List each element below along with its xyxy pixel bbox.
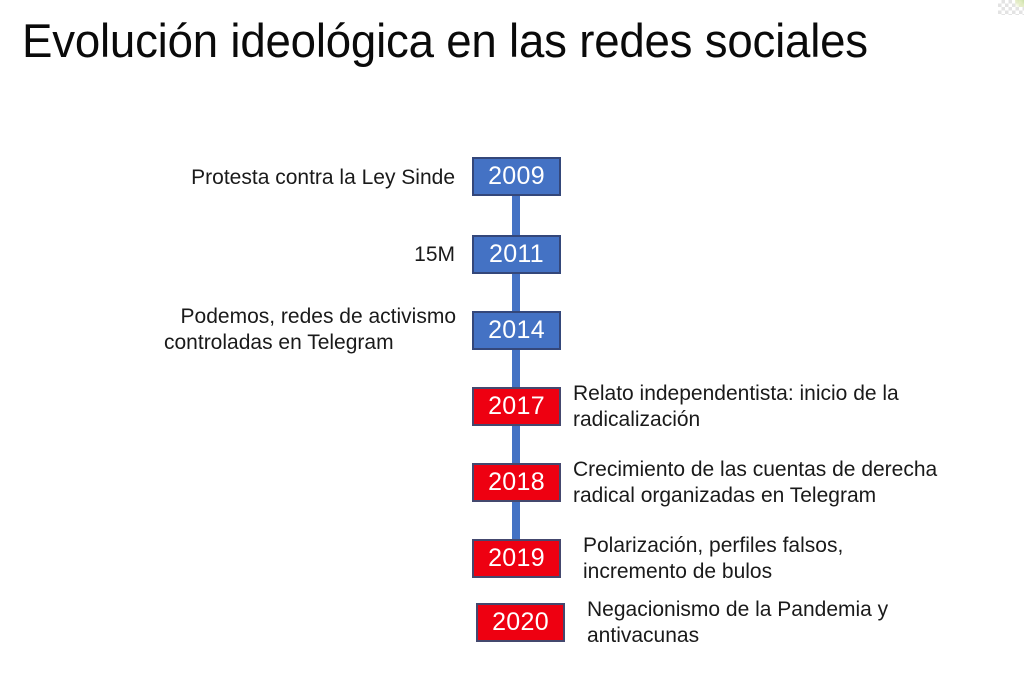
timeline-label-2018-line2: radical organizadas en Telegram: [573, 483, 993, 509]
timeline-connector-2018-2019: [512, 499, 520, 541]
timeline-year-box-2011[interactable]: 2011: [472, 235, 561, 274]
timeline-label-2009-line1: Protesta contra la Ley Sinde: [140, 165, 455, 191]
timeline-label-2019: Polarización, perfiles falsos, increment…: [583, 533, 983, 585]
slide-canvas: Evolución ideológica en las redes social…: [0, 0, 1024, 676]
timeline-year-2017: 2017: [488, 392, 545, 420]
timeline-year-box-2017[interactable]: 2017: [472, 387, 561, 426]
timeline-label-2017-line1: Relato independentista: inicio de la: [573, 381, 993, 407]
timeline-label-2020-line1: Negacionismo de la Pandemia y: [587, 597, 987, 623]
timeline-label-2011-line1: 15M: [140, 242, 455, 268]
timeline-year-2019: 2019: [488, 544, 545, 572]
timeline-year-box-2020[interactable]: 2020: [476, 603, 565, 642]
timeline-year-box-2019[interactable]: 2019: [472, 539, 561, 578]
timeline-connector-2009-2011: [512, 193, 520, 237]
timeline-label-2017: Relato independentista: inicio de la rad…: [573, 381, 993, 433]
timeline-label-2019-line2: incremento de bulos: [583, 559, 983, 585]
timeline-year-2014: 2014: [488, 316, 545, 344]
timeline-label-2014-line2: controladas en Telegram: [140, 330, 456, 356]
timeline-label-2009: Protesta contra la Ley Sinde: [140, 165, 455, 191]
timeline-connector-2011-2014: [512, 271, 520, 313]
timeline-year-2011: 2011: [489, 240, 544, 268]
timeline-year-box-2009[interactable]: 2009: [472, 157, 561, 196]
timeline-label-2018-line1: Crecimiento de las cuentas de derecha: [573, 457, 993, 483]
timeline-year-box-2014[interactable]: 2014: [472, 311, 561, 350]
timeline-label-2018: Crecimiento de las cuentas de derecha ra…: [573, 457, 993, 509]
timeline-connector-2017-2018: [512, 423, 520, 465]
timeline-label-2020: Negacionismo de la Pandemia y antivacuna…: [587, 597, 987, 649]
timeline-year-2020: 2020: [492, 608, 549, 636]
timeline-year-box-2018[interactable]: 2018: [472, 463, 561, 502]
timeline-year-2009: 2009: [488, 162, 545, 190]
timeline-label-2014-line1: Podemos, redes de activismo: [140, 304, 456, 330]
timeline-connector-2014-2017: [512, 347, 520, 389]
timeline-label-2017-line2: radicalización: [573, 407, 993, 433]
timeline-label-2019-line1: Polarización, perfiles falsos,: [583, 533, 983, 559]
timeline-label-2011: 15M: [140, 242, 455, 268]
timeline-label-2020-line2: antivacunas: [587, 623, 987, 649]
timeline-label-2014: Podemos, redes de activismo controladas …: [140, 304, 456, 356]
timeline-graphic: Protesta contra la Ley Sinde 2009 15M 20…: [0, 0, 1024, 676]
timeline-year-2018: 2018: [488, 468, 545, 496]
